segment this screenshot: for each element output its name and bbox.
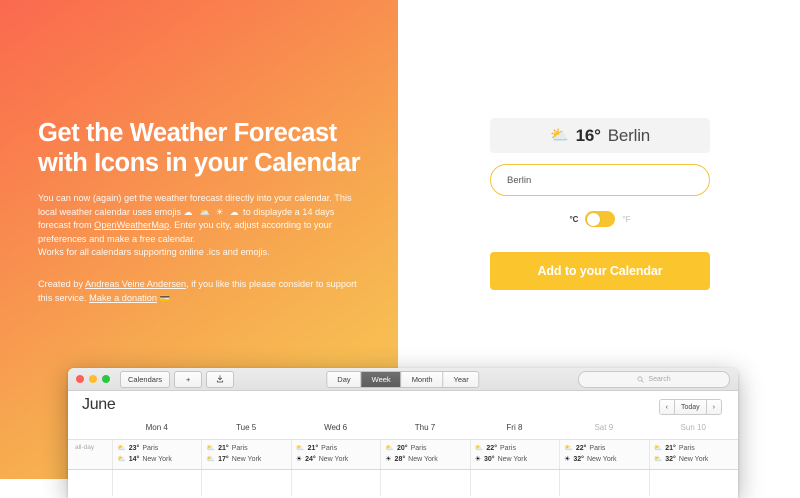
current-temperature: 16° [576, 126, 601, 146]
credit-card-icon: 💳 [160, 293, 171, 303]
calendar-event[interactable]: ☀ 30° New York [475, 454, 559, 465]
minimize-window-button[interactable] [89, 375, 97, 383]
event-city: New York [408, 454, 438, 465]
city-input[interactable] [490, 164, 710, 196]
time-grid-column[interactable] [559, 470, 648, 496]
event-temperature: 21° [665, 443, 676, 454]
today-button[interactable]: Today [675, 400, 707, 414]
day-header: Wed 6 [291, 423, 380, 439]
hero-description: You can now (again) get the weather fore… [38, 192, 368, 260]
day-header: Thu 7 [380, 423, 469, 439]
calendar-event[interactable]: ⛅ 21° Paris [206, 443, 290, 454]
calendar-event[interactable]: ⛅ 22° Paris [564, 443, 648, 454]
weather-icon: ⛅ [117, 454, 126, 465]
calendar-event[interactable]: ⛅ 22° Paris [475, 443, 559, 454]
time-grid-column[interactable] [470, 470, 559, 496]
weather-icon: ⛅ [475, 443, 484, 454]
search-input[interactable]: Search [578, 371, 730, 388]
time-grid-column[interactable] [112, 470, 201, 496]
event-city: Paris [500, 443, 516, 454]
event-city: Paris [142, 443, 158, 454]
event-temperature: 14° [129, 454, 140, 465]
weather-icon: ☀ [385, 454, 391, 465]
event-temperature: 22° [576, 443, 587, 454]
page-title-line-2: with Icons in your Calendar [38, 148, 368, 178]
calendar-event[interactable]: ☀ 32° New York [564, 454, 648, 465]
view-segmented-control[interactable]: Day Week Month Year [326, 371, 479, 388]
weather-icon: ⛅ [564, 443, 573, 454]
all-day-column: ⛅ 23° Paris ⛅ 14° New York [112, 440, 201, 469]
sun-behind-cloud-icon: ⛅ [550, 128, 569, 143]
page-root: Get the Weather Forecast with Icons in y… [0, 0, 800, 479]
hero-content: Get the Weather Forecast with Icons in y… [38, 118, 368, 305]
calendar-event[interactable]: ⛅ 14° New York [117, 454, 201, 465]
maximize-window-button[interactable] [102, 375, 110, 383]
weather-icon: ☀ [296, 454, 302, 465]
calendar-month-row: June ‹ Today › [68, 391, 738, 423]
event-city: Paris [321, 443, 337, 454]
day-header: Fri 8 [470, 423, 559, 439]
search-placeholder-text: Search [648, 376, 670, 383]
weather-icon: ⛅ [206, 443, 215, 454]
tab-day[interactable]: Day [327, 372, 361, 387]
calendar-body: June ‹ Today › Mon 4 Tue 5 Wed 6 Thu 7 F… [68, 391, 738, 498]
event-temperature: 23° [129, 443, 140, 454]
calendar-event[interactable]: ⛅ 21° Paris [654, 443, 738, 454]
day-header: Sun 10 [649, 423, 738, 439]
event-temperature: 21° [308, 443, 319, 454]
event-city: Paris [589, 443, 605, 454]
weather-icon: ⛅ [385, 443, 394, 454]
event-temperature: 28° [395, 454, 406, 465]
weather-icon: ⛅ [206, 454, 215, 465]
calendar-event[interactable]: ⛅ 23° Paris [117, 443, 201, 454]
time-grid-row [68, 470, 738, 496]
all-day-column: ⛅ 21° Paris ⛅ 17° New York [201, 440, 290, 469]
weather-icon: ⛅ [654, 454, 663, 465]
hero-credit: Created by Andreas Veine Andersen, if yo… [38, 278, 368, 305]
event-city: Paris [679, 443, 695, 454]
event-city: New York [679, 454, 709, 465]
all-day-column: ⛅ 21° Paris ☀ 24° New York [291, 440, 380, 469]
all-day-column: ⛅ 22° Paris ☀ 30° New York [470, 440, 559, 469]
calendar-event[interactable]: ⛅ 20° Paris [385, 443, 469, 454]
time-grid-column[interactable] [201, 470, 290, 496]
event-temperature: 20° [397, 443, 408, 454]
page-title: Get the Weather Forecast with Icons in y… [38, 118, 368, 178]
event-city: New York [587, 454, 617, 465]
all-day-events-row: all-day ⛅ 23° Paris ⛅ 14° New York [68, 439, 738, 470]
weather-emoji-run: ☁ ⛅ ☀ ☁ [184, 207, 241, 217]
all-day-column: ⛅ 21° Paris ⛅ 32° New York [649, 440, 738, 469]
current-city: Berlin [608, 126, 650, 146]
tab-week[interactable]: Week [362, 372, 402, 387]
unit-toggle-switch[interactable] [585, 211, 615, 227]
window-traffic-lights [76, 375, 110, 383]
close-window-button[interactable] [76, 375, 84, 383]
add-event-button[interactable]: + [174, 371, 202, 388]
donation-link[interactable]: Make a donation [89, 293, 157, 303]
author-link[interactable]: Andreas Veine Andersen [85, 279, 186, 289]
unit-celsius-label: °C [569, 215, 578, 224]
event-temperature: 21° [218, 443, 229, 454]
previous-week-button[interactable]: ‹ [660, 400, 675, 414]
tab-month[interactable]: Month [402, 372, 444, 387]
all-day-label: all-day [68, 440, 112, 469]
add-to-calendar-button[interactable]: Add to your Calendar [490, 252, 710, 290]
credit-prefix: Created by [38, 279, 85, 289]
event-temperature: 32° [573, 454, 584, 465]
day-header: Tue 5 [201, 423, 290, 439]
weather-icon: ⛅ [296, 443, 305, 454]
time-grid-column[interactable] [380, 470, 469, 496]
weather-icon: ⛅ [654, 443, 663, 454]
calendar-event[interactable]: ☀ 24° New York [296, 454, 380, 465]
toggle-knob [587, 213, 600, 226]
calendar-event[interactable]: ⛅ 32° New York [654, 454, 738, 465]
event-temperature: 30° [484, 454, 495, 465]
event-city: New York [142, 454, 172, 465]
page-title-line-1: Get the Weather Forecast [38, 119, 337, 147]
event-city: New York [319, 454, 349, 465]
unit-toggle-row: °C °F [490, 208, 710, 230]
event-temperature: 17° [218, 454, 229, 465]
calendar-navigation[interactable]: ‹ Today › [659, 399, 722, 415]
calendars-button[interactable]: Calendars [120, 371, 170, 388]
day-header: Sat 9 [559, 423, 648, 439]
all-day-column: ⛅ 20° Paris ☀ 28° New York [380, 440, 469, 469]
day-header-row: Mon 4 Tue 5 Wed 6 Thu 7 Fri 8 Sat 9 Sun … [68, 423, 738, 439]
event-city: New York [232, 454, 262, 465]
event-city: Paris [411, 443, 427, 454]
export-icon[interactable] [206, 371, 234, 388]
month-label: June [82, 396, 116, 414]
weather-icon: ☀ [475, 454, 481, 465]
event-city: Paris [232, 443, 248, 454]
tab-year[interactable]: Year [444, 372, 479, 387]
next-week-button[interactable]: › [707, 400, 721, 414]
time-grid-column[interactable] [291, 470, 380, 496]
day-header: Mon 4 [112, 423, 201, 439]
calendar-event[interactable]: ☀ 28° New York [385, 454, 469, 465]
calendar-toolbar: Calendars + Day Week Month Year Searc [68, 368, 738, 391]
event-city: New York [498, 454, 528, 465]
current-weather-badge: ⛅ 16° Berlin [490, 118, 710, 153]
openweathermap-link[interactable]: OpenWeatherMap [94, 220, 169, 230]
all-day-column: ⛅ 22° Paris ☀ 32° New York [559, 440, 648, 469]
time-gutter [68, 470, 112, 496]
search-icon [637, 376, 644, 383]
unit-fahrenheit-label: °F [622, 215, 630, 224]
time-grid-column[interactable] [649, 470, 738, 496]
hero-description-part-4: Works for all calendars supporting onlin… [38, 247, 270, 257]
calendar-event[interactable]: ⛅ 21° Paris [296, 443, 380, 454]
weather-icon: ⛅ [117, 443, 126, 454]
event-temperature: 22° [486, 443, 497, 454]
calendar-event[interactable]: ⛅ 17° New York [206, 454, 290, 465]
weather-icon: ☀ [564, 454, 570, 465]
event-temperature: 24° [305, 454, 316, 465]
event-temperature: 32° [665, 454, 676, 465]
